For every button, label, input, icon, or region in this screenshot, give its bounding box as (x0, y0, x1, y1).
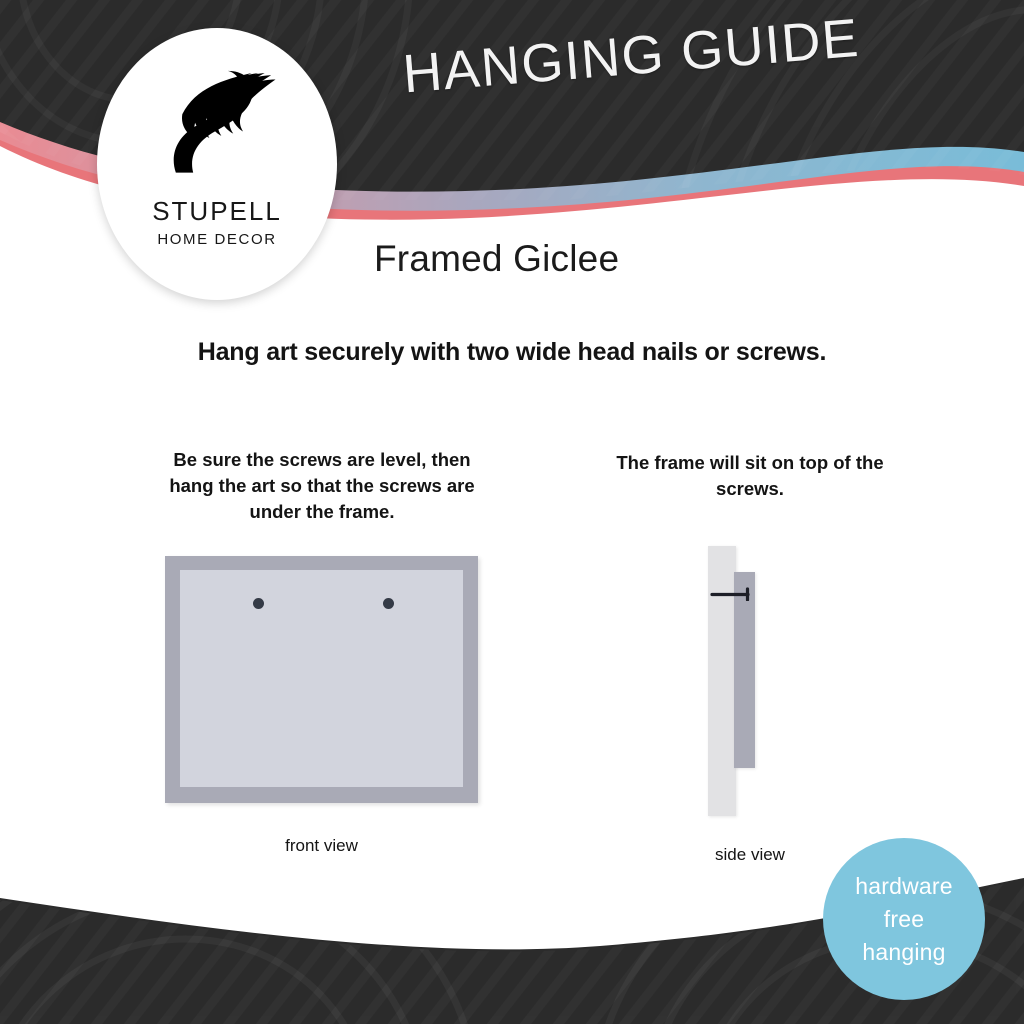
logo-tagline: HOME DECOR (157, 231, 276, 248)
badge-line-2: free (884, 903, 924, 936)
page-title: HANGING GUIDE (370, 4, 893, 108)
screw-profile-icon (710, 587, 754, 601)
front-view-label: front view (165, 836, 478, 856)
logo-wordmark: STUPELL (152, 196, 282, 227)
screw-dot-right-icon (383, 598, 394, 609)
primary-instruction: Hang art securely with two wide head nai… (0, 338, 1024, 367)
front-view-mat (180, 570, 463, 787)
brand-logo-badge: STUPELL HOME DECOR (97, 28, 337, 300)
side-view-label: side view (660, 845, 840, 865)
hardware-free-hanging-badge: hardware free hanging (823, 838, 985, 1000)
side-view-frame (734, 572, 755, 768)
hanging-guide-page: STUPELL HOME DECOR HANGING GUIDE Framed … (0, 0, 1024, 1024)
side-view-diagram (708, 546, 798, 818)
badge-line-1: hardware (855, 870, 953, 903)
product-type-title: Framed Giclee (374, 238, 619, 280)
screw-dot-left-icon (253, 598, 264, 609)
front-view-diagram (165, 556, 478, 803)
badge-line-3: hanging (862, 936, 945, 969)
side-view-caption: The frame will sit on top of the screws. (600, 450, 900, 502)
stupell-swoosh-icon (152, 60, 282, 190)
front-view-caption: Be sure the screws are level, then hang … (152, 447, 492, 525)
